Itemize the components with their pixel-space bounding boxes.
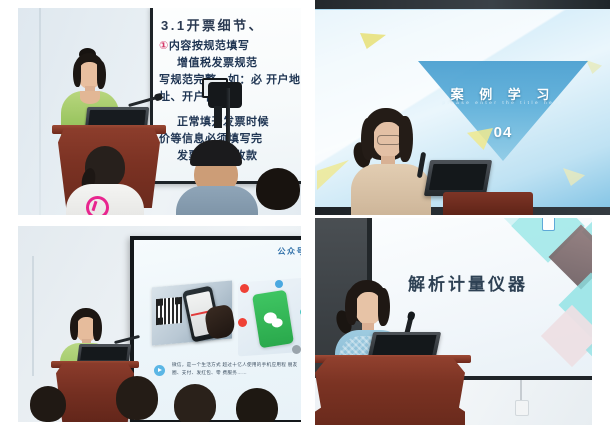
bullet-marker: ① [159, 40, 169, 52]
chat-bubble-small [271, 318, 283, 329]
camera-body [208, 82, 242, 108]
shirt [176, 186, 258, 215]
hair-left [73, 61, 81, 87]
hair-left [70, 315, 78, 340]
wall-seam [32, 256, 34, 376]
photo-panel-top-left[interactable]: 3.1开票细节、 ①内容按规范填写 增值税发票规范 写规范完整。如：必 开户地址… [18, 8, 301, 215]
audience-member [110, 376, 164, 422]
hair-right [93, 315, 102, 341]
hair-left [345, 289, 357, 325]
photo-panel-top-right[interactable]: 案 例 学 习 please enter the title here 04 [315, 0, 610, 215]
cap [190, 140, 242, 166]
audience-member [66, 146, 144, 215]
document-icon [542, 218, 555, 231]
hair-right [399, 116, 413, 162]
podium [315, 358, 465, 425]
slide-subtitle: please enter the title here [418, 100, 588, 105]
hair-right [378, 288, 390, 326]
head [256, 168, 300, 210]
audience-member [178, 140, 254, 215]
slide-line-2: 增值税发票规范 [159, 55, 301, 72]
podium [443, 192, 533, 215]
arrow-bullet-icon [154, 365, 165, 376]
node-dot-red [238, 318, 247, 327]
head [30, 386, 66, 422]
head [174, 384, 216, 422]
head [236, 388, 278, 422]
v-neckline [80, 91, 100, 104]
audience-member [24, 386, 72, 422]
hair-right [97, 61, 106, 89]
hair-left [361, 118, 374, 160]
power-cord [520, 380, 522, 402]
node-dot-teal [300, 308, 301, 316]
node-dot-red [240, 284, 249, 293]
slide-section-number: 04 [418, 124, 588, 141]
slide-title: 公众号 [278, 246, 302, 257]
photo-panel-bottom-left[interactable]: 公众号 微信，是一个生活方式 超过十亿人使用的手机应用程 朋友圈、支付、发红包、… [18, 226, 301, 422]
shirt-logo [86, 196, 109, 215]
wall-seam [39, 8, 41, 215]
wall-outlet-icon [515, 400, 529, 416]
photo-panel-bottom-right[interactable]: 解析计量仪器 [315, 218, 592, 425]
audience-member [250, 168, 301, 215]
camera-arm [214, 106, 222, 128]
screen-top-bezel [315, 0, 610, 9]
slide-title: 解析计量仪器 [408, 270, 528, 295]
head [116, 376, 158, 420]
laptop [424, 160, 492, 196]
glasses-icon [377, 135, 401, 145]
node-dot-blue [275, 280, 283, 288]
photo-collage: 3.1开票细节、 ①内容按规范填写 增值税发票规范 写规范完整。如：必 开户地址… [0, 0, 610, 429]
audience-member [168, 384, 224, 422]
audience-member [230, 388, 286, 422]
slide-line-1: 内容按规范填写 [169, 40, 250, 52]
slide-title: 3.1开票细节、 [161, 15, 301, 34]
node-dot-gray [292, 345, 301, 354]
slide-caption: 微信，是一个生活方式 超过十亿人使用的手机应用程 朋友圈、支付、发红包、零 费服… [172, 361, 301, 377]
qr-code-icon [156, 297, 182, 325]
slide-line-5: 正常填开发票时候 [159, 114, 301, 131]
